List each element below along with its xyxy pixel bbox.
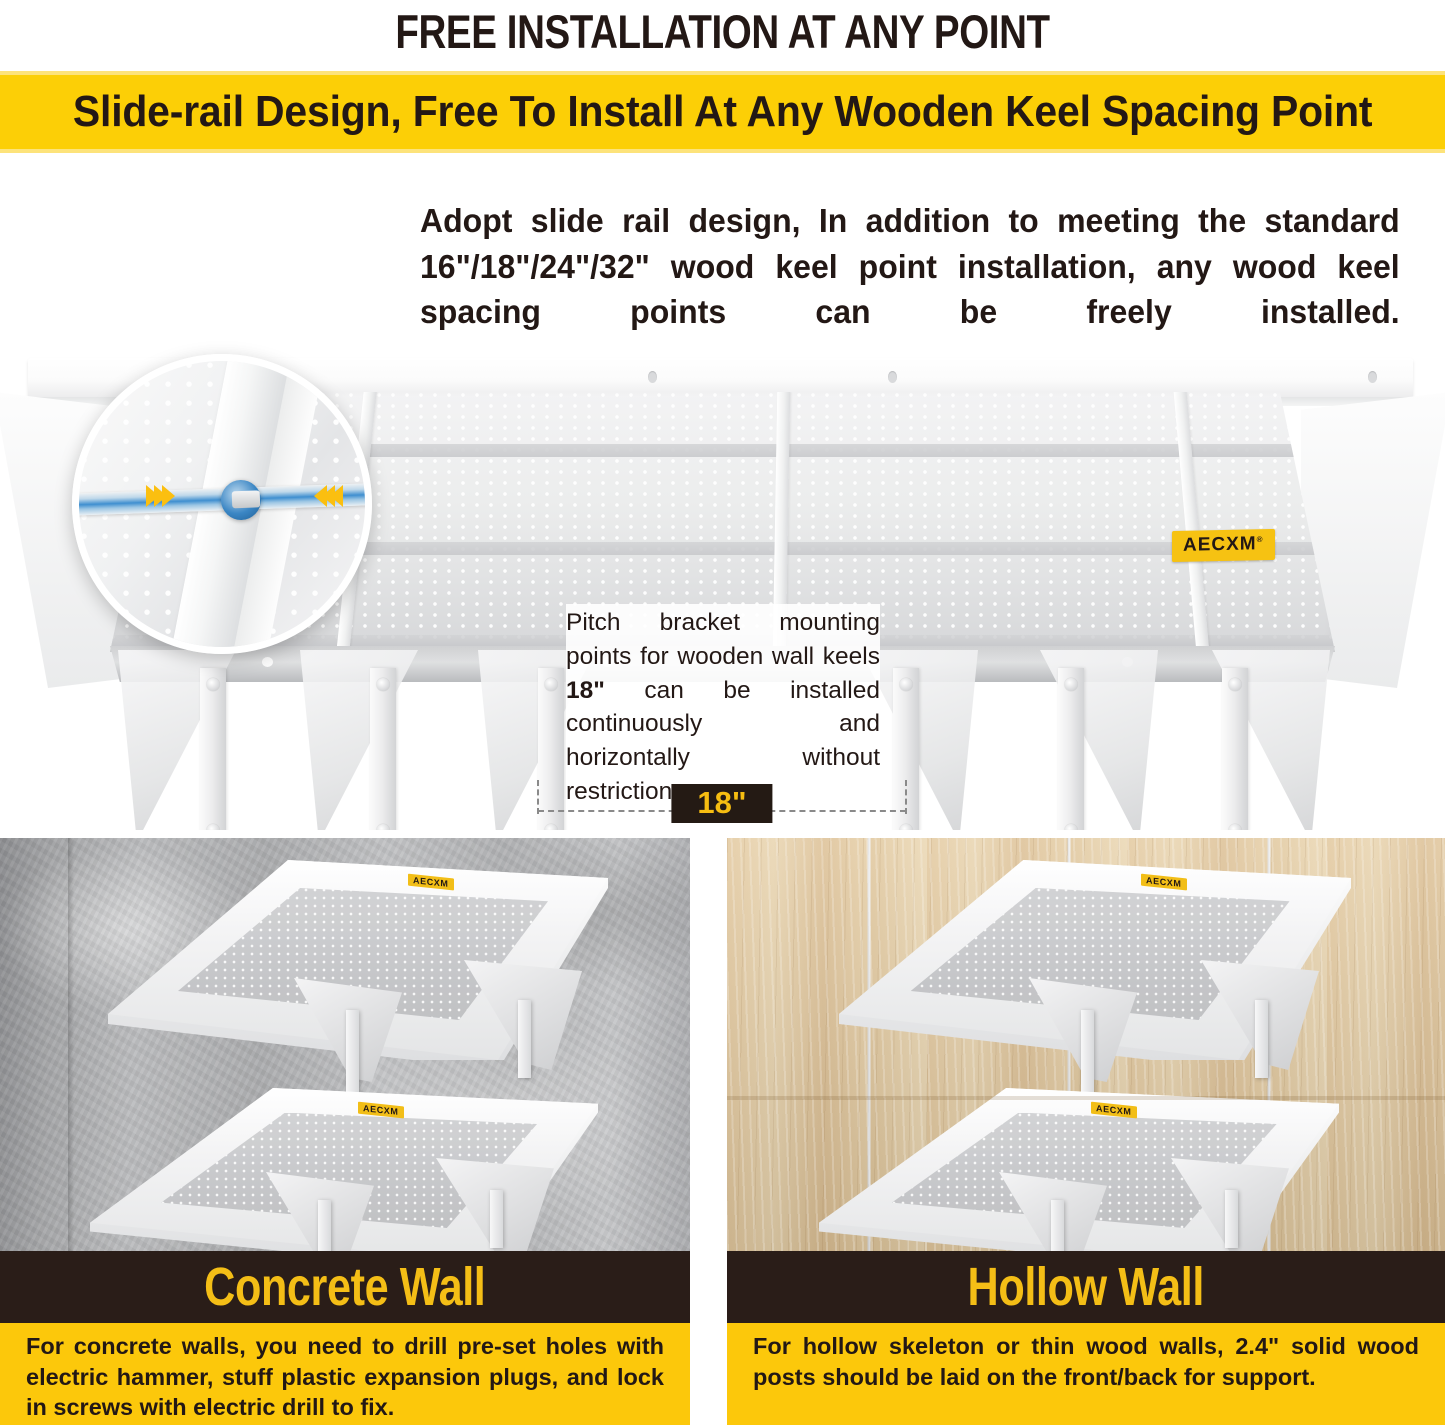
mini-bracket-leg	[490, 1190, 503, 1248]
subtitle-banner-text: Slide-rail Design, Free To Install At An…	[73, 87, 1372, 137]
concrete-wall-label-bar: Concrete Wall	[0, 1251, 690, 1323]
bracket-screw	[207, 824, 220, 830]
shelf-bracket-leg	[1058, 668, 1084, 830]
bracket-screw	[1065, 824, 1078, 830]
concrete-wall-scene: AECXM AECXM	[0, 838, 690, 1251]
mini-bracket-leg	[1255, 1000, 1268, 1078]
mini-bracket-leg	[1051, 1200, 1064, 1251]
bracket-screw	[377, 824, 390, 830]
panel-concrete-wall: AECXM AECXM Concre	[0, 838, 690, 1425]
bracket-screw	[1229, 824, 1242, 830]
wall-type-panels: AECXM AECXM Concre	[0, 838, 1445, 1425]
shelf-bracket-leg	[200, 668, 226, 830]
trademark-symbol: ®	[1257, 535, 1264, 544]
slide-right-arrow-icon	[151, 485, 175, 507]
concrete-wall-description: For concrete walls, you need to drill pr…	[26, 1331, 664, 1423]
mini-shelf-upper: AECXM	[108, 860, 608, 1060]
bracket-screw	[900, 678, 913, 691]
mini-shelf-upper: AECXM	[839, 860, 1351, 1060]
main-title: FREE INSTALLATION AT ANY POINT	[130, 0, 1315, 62]
bracket-screw	[207, 678, 220, 691]
concrete-wall-title: Concrete Wall	[204, 1256, 485, 1318]
panel-hollow-wall: AECXM AECXM Hollow	[727, 838, 1445, 1425]
hollow-wall-description-bar: For hollow skeleton or thin wood walls, …	[727, 1323, 1445, 1425]
brand-badge: AECXM®	[1172, 529, 1275, 562]
mini-shelf-lower: AECXM	[90, 1088, 598, 1251]
hollow-wall-title: Hollow Wall	[968, 1256, 1204, 1318]
mini-bracket-leg	[318, 1200, 331, 1251]
hollow-wall-description: For hollow skeleton or thin wood walls, …	[753, 1331, 1419, 1392]
mini-bracket-leg	[346, 1010, 359, 1094]
deck-rib	[1174, 392, 1210, 652]
bracket-screw	[1229, 678, 1242, 691]
brand-badge-text: AECXM	[1183, 533, 1257, 556]
hollow-wall-label-bar: Hollow Wall	[727, 1251, 1445, 1323]
bracket-screw	[545, 678, 558, 691]
mini-shelf-lower: AECXM	[819, 1088, 1339, 1251]
concrete-wall-description-bar: For concrete walls, you need to drill pr…	[0, 1323, 690, 1425]
shelf-bracket-leg	[370, 668, 396, 830]
bracket-screw	[1065, 678, 1078, 691]
slide-rail-magnifier	[72, 354, 372, 654]
slide-left-arrow-icon	[319, 485, 343, 507]
hollow-wall-scene: AECXM AECXM	[727, 838, 1445, 1251]
lip-hole	[262, 657, 273, 667]
dimension-label: 18"	[671, 784, 772, 823]
mini-bracket-leg	[1081, 1010, 1094, 1094]
dimension-tick-left	[537, 780, 539, 814]
subtitle-banner: Slide-rail Design, Free To Install At An…	[0, 71, 1445, 153]
dimension-line: 18"	[536, 780, 908, 828]
dimension-tick-right	[905, 780, 907, 814]
rail-hole	[888, 371, 897, 383]
rail-hole	[648, 371, 657, 383]
infographic-page: FREE INSTALLATION AT ANY POINT Slide-rai…	[0, 0, 1445, 1425]
shelf-bracket-leg	[1222, 668, 1248, 830]
shelf-gusset	[300, 650, 418, 830]
mini-bracket-leg	[518, 1000, 531, 1078]
mini-bracket-leg	[1225, 1190, 1238, 1248]
bracket-screw	[377, 678, 390, 691]
rail-hole	[1368, 371, 1377, 383]
callout-text-part1: Pitch bracket mounting points for wooden…	[566, 609, 880, 670]
callout-text-bold: 18"	[566, 677, 605, 704]
